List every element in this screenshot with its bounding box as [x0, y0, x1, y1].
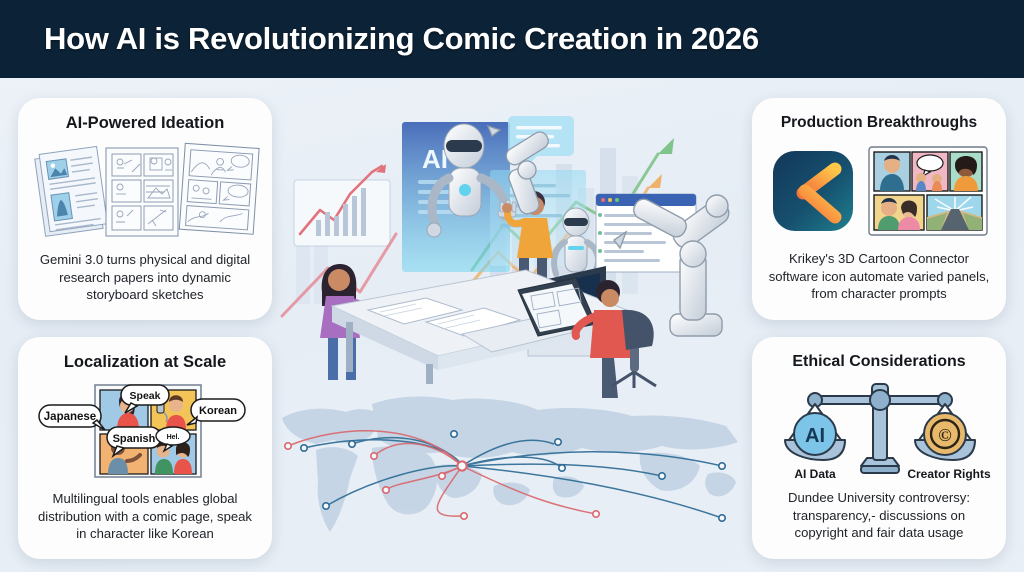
bubble-text-korean: Korean [199, 405, 237, 417]
speech-bubble-japanese: Japanese [39, 405, 105, 430]
storyboard-sheet-right [179, 143, 259, 234]
card-caption-localization: Multilingual tools enables global distri… [30, 490, 260, 543]
card-title-ideation: AI-Powered Ideation [66, 114, 225, 133]
copyright-badge: © [924, 413, 966, 455]
copyright-badge-text: © [938, 425, 951, 445]
header-bar: How AI is Revolutionizing Comic Creation… [0, 0, 1024, 78]
comic-panel-4 [874, 195, 924, 230]
card-ai-powered-ideation[interactable]: AI-Powered Ideation [18, 98, 272, 320]
comic-panel-3 [950, 152, 982, 191]
card-caption-ideation: Gemini 3.0 turns physical and digital re… [30, 251, 260, 304]
ai-badge-text: AI [805, 425, 825, 447]
storyboard-sheet-middle [106, 148, 178, 236]
scale-right-label: Creator Rights [907, 467, 991, 481]
localization-illustration: Japanese Speak Korean Spanish [30, 379, 260, 483]
comic-panel-5 [927, 195, 982, 230]
growth-chart-card [294, 164, 390, 246]
bubble-text-speak: Speak [130, 390, 161, 402]
comic-panel-grid [869, 147, 987, 235]
global-distribution-map [276, 382, 748, 562]
bubble-text-spanish: Spanish [113, 433, 156, 445]
center-illustration: AI [276, 84, 748, 384]
infographic-page: How AI is Revolutionizing Comic Creation… [0, 0, 1024, 572]
ideation-illustration [30, 140, 260, 244]
krikey-logo-icon [773, 151, 853, 231]
comic-panel-1 [874, 152, 910, 191]
bubble-text-japanese: Japanese [44, 411, 96, 423]
ai-data-badge: AI [794, 413, 836, 455]
production-illustration [764, 139, 994, 243]
card-title-production: Production Breakthroughs [781, 114, 977, 132]
card-localization-at-scale[interactable]: Localization at Scale [18, 337, 272, 559]
card-production-breakthroughs[interactable]: Production Breakthroughs [752, 98, 1006, 320]
ethics-illustration: AI © AI Data Creator Rights [764, 378, 994, 482]
page-title: How AI is Revolutionizing Comic Creation… [44, 21, 759, 57]
card-caption-ethics: Dundee University controversy: transpare… [764, 489, 994, 542]
scale-left-label: AI Data [794, 467, 836, 481]
research-papers-icon [34, 146, 108, 236]
comic-panel-2 [912, 152, 948, 191]
card-caption-production: Krikey's 3D Cartoon Connector software i… [764, 250, 994, 303]
card-ethical-considerations[interactable]: Ethical Considerations [752, 337, 1006, 559]
card-title-localization: Localization at Scale [64, 353, 226, 372]
speech-bubble-korean: Korean [187, 399, 245, 425]
bubble-text-hello: Hel. [167, 434, 180, 441]
card-title-ethics: Ethical Considerations [792, 353, 965, 371]
